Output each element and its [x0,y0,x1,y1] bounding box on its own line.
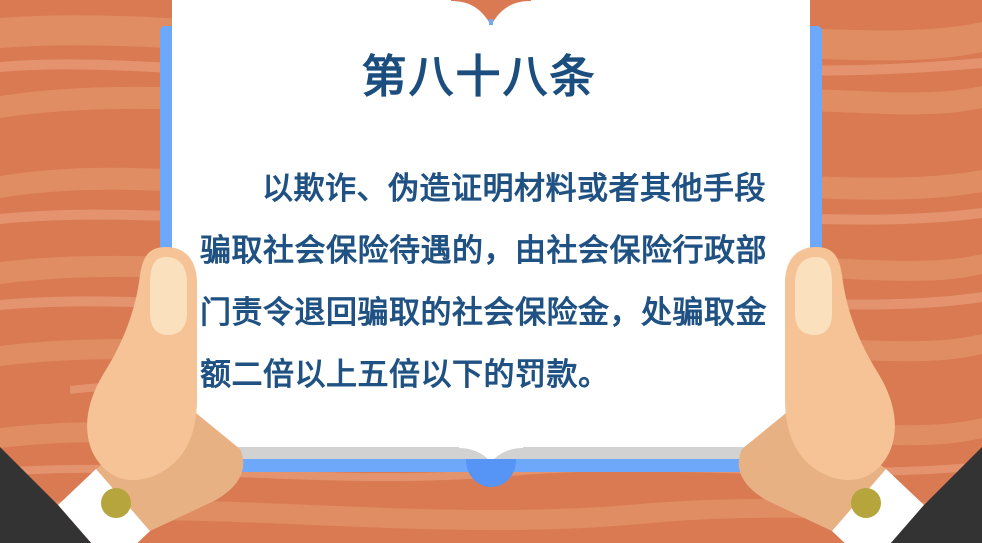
right-hand [682,213,982,543]
left-hand-illustration [0,213,300,543]
page-title: 第八十八条 [190,54,768,99]
cufflink-button [851,488,881,518]
cufflink-button [101,488,131,518]
left-hand [0,213,300,543]
right-hand-illustration [682,213,982,543]
poster-scene: 第八十八条 以欺诈、伪造证明材料或者其他手段 骗取社会保险待遇的，由社会保险行政… [0,0,982,543]
article-line: 以欺诈、伪造证明材料或者其他手段 [200,158,760,220]
